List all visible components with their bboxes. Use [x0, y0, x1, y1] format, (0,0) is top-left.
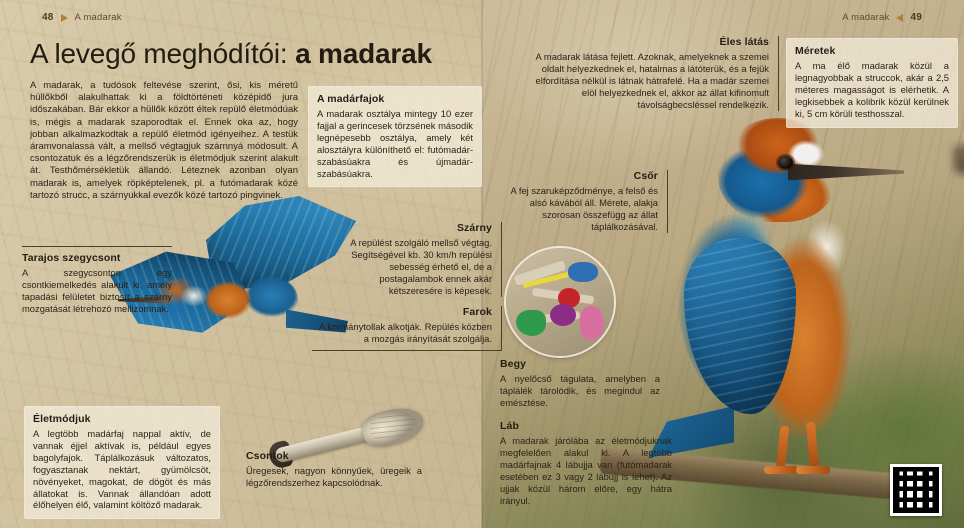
callout-sizes: Méretek A ma élő madarak közül a legnagy… [786, 38, 958, 128]
callout-text: A ma élő madarak közül a legnagyobbak a … [795, 60, 949, 120]
running-head-right: A madarak 49 [842, 12, 922, 23]
callout-keeled-sternum: Tarajos szegycsont A szegycsonton egy cs… [22, 246, 172, 315]
page-title-plain: A levegő meghódítói: [30, 38, 295, 69]
callout-wing: Szárny A repülést szolgáló mellső végtag… [334, 222, 502, 297]
callout-text: A nyelőcső tágulata, amelyben a táplálék… [500, 373, 660, 409]
callout-text: A repülést szolgáló mellső végtag. Segít… [334, 237, 492, 297]
page-number-right: 49 [910, 12, 922, 23]
callout-lifestyle: Életmódjuk A legtöbb madárfaj nappal akt… [24, 406, 220, 519]
running-head-right-label: A madarak [842, 12, 889, 23]
page-title-bold: a madarak [295, 38, 432, 69]
bird-wing [684, 238, 796, 414]
callout-crop: Begy A nyelőcső tágulata, amelyben a táp… [500, 358, 660, 409]
callout-heading: Farok [312, 306, 492, 318]
bird-foot-right [796, 466, 830, 474]
organ-purple [550, 304, 576, 326]
anatomy-inset-diagram [506, 248, 614, 356]
callout-heading: Szárny [334, 222, 492, 234]
callout-text: A fej szaruképződménye, a felső és alsó … [492, 185, 658, 233]
callout-text: A madarak osztálya mintegy 10 ezer fajja… [317, 108, 473, 179]
page-title: A levegő meghódítói: a madarak [30, 38, 432, 70]
triangle-right-icon [61, 14, 68, 22]
perched-kingfisher-illustration [640, 110, 940, 500]
qr-code-pattern [893, 467, 939, 513]
bird-body [202, 270, 298, 332]
bone-head [359, 403, 427, 451]
intro-paragraph: A madarak, a tudósok feltevése szerint, … [30, 80, 298, 202]
bird-foot-left [764, 466, 798, 474]
qr-code[interactable] [890, 464, 942, 516]
callout-text: Üregesek, nagyon könnyűek, üregeik a lég… [246, 465, 422, 489]
callout-heading: Tarajos szegycsont [22, 252, 172, 264]
callout-heading: Éles látás [533, 36, 769, 48]
callout-heading: Begy [500, 358, 660, 370]
callout-heading: Csontok [246, 450, 422, 462]
callout-text: A madarak járólába az életmódjuknak megf… [500, 435, 672, 506]
callout-leg: Láb A madarak járólába az életmódjuknak … [500, 420, 672, 506]
callout-text: A madarak látása fejlett. Azoknak, amely… [533, 51, 769, 111]
running-head-left-label: A madarak [75, 12, 122, 23]
callout-heading: Életmódjuk [33, 413, 211, 425]
bird-eye [778, 156, 793, 169]
triangle-left-icon [896, 14, 903, 22]
callout-sharp-vision: Éles látás A madarak látása fejlett. Azo… [533, 36, 779, 111]
callout-bones: Csontok Üregesek, nagyon könnyűek, ürege… [246, 450, 422, 489]
callout-heading: Méretek [795, 45, 949, 57]
organ-blue [568, 262, 598, 282]
callout-tail: Farok A kormánytollak alkotják. Repülés … [312, 306, 502, 351]
callout-heading: Csőr [492, 170, 658, 182]
textbook-spread: 48 A madarak A madarak 49 A levegő meghó… [0, 0, 964, 528]
callout-beak: Csőr A fej szaruképződménye, a felső és … [492, 170, 668, 233]
organ-pink [580, 306, 604, 340]
organ-green [516, 310, 546, 336]
running-head-left: 48 A madarak [42, 12, 122, 23]
callout-text: A szegycsonton egy csontkiemelkedés alak… [22, 267, 172, 315]
callout-heading: A madárfajok [317, 93, 473, 105]
callout-bird-species: A madárfajok A madarak osztálya mintegy … [308, 86, 482, 187]
callout-text: A kormánytollak alkotják. Repülés közben… [312, 321, 492, 345]
page-number-left: 48 [42, 12, 54, 23]
callout-heading: Láb [500, 420, 672, 432]
callout-text: A legtöbb madárfaj nappal aktív, de vann… [33, 428, 211, 511]
intro-text: A madarak, a tudósok feltevése szerint, … [30, 80, 298, 202]
